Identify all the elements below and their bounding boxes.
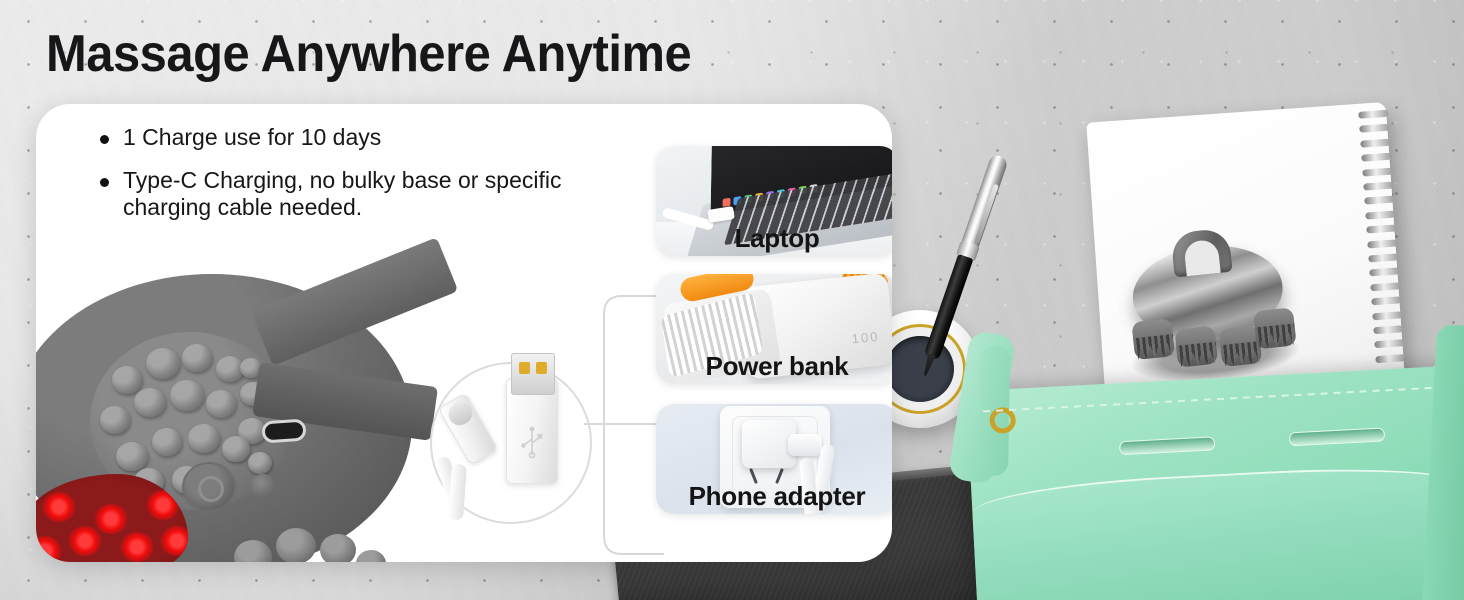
massager-nub <box>222 436 250 462</box>
massager-claw <box>1131 318 1175 360</box>
device-card-label: Power bank <box>656 351 892 382</box>
massager-nub <box>134 388 166 417</box>
bag-stitching <box>983 386 1450 412</box>
massager-nub <box>152 428 182 456</box>
usb-c-head <box>444 398 476 429</box>
massager-claw <box>1174 326 1218 368</box>
usb-a-pin <box>519 362 530 374</box>
massager-nub <box>188 424 220 453</box>
massager-handle <box>1170 228 1232 278</box>
list-item: Type-C Charging, no bulky base or specif… <box>100 167 620 221</box>
massager-sensor <box>250 474 276 498</box>
massager-nub-pad-secondary <box>228 524 388 562</box>
usb-a-pin <box>536 362 547 374</box>
massager-nub <box>146 348 180 379</box>
page-title: Massage Anywhere Anytime <box>46 24 691 84</box>
chrome-scalp-massager <box>1113 221 1308 389</box>
massager-nub <box>116 442 148 471</box>
red-led-dot <box>160 526 188 556</box>
bag-slot <box>1119 436 1216 455</box>
massager-nub <box>170 380 204 411</box>
power-icon <box>198 476 224 502</box>
red-led-dot <box>42 492 76 522</box>
massager-nub <box>234 540 272 562</box>
usb-cable-inset <box>430 362 592 524</box>
power-button[interactable] <box>182 462 236 512</box>
massager-nub <box>112 366 142 394</box>
device-card-power-bank[interactable]: 100 Power bank <box>656 274 892 384</box>
power-bank-display: 100 <box>851 329 880 347</box>
list-item: 1 Charge use for 10 days <box>100 124 620 151</box>
massager-nub <box>356 550 386 562</box>
massager-nub <box>248 452 272 474</box>
adapter-plug <box>788 434 822 456</box>
red-led-dot <box>68 526 102 556</box>
device-card-label: Phone adapter <box>656 481 892 512</box>
usb-c-connector <box>438 392 499 465</box>
massager-nub <box>182 344 212 372</box>
feature-bullet-list: 1 Charge use for 10 days Type-C Charging… <box>100 124 620 237</box>
usb-a-metal-shell <box>511 353 555 395</box>
device-card-label: Laptop <box>656 223 892 254</box>
bullet-dot-icon <box>100 135 109 144</box>
massager-claw <box>1253 307 1297 349</box>
bag-flap <box>971 461 1464 600</box>
massager-nub <box>276 528 316 562</box>
red-led-dot <box>120 532 154 562</box>
info-panel: 1 Charge use for 10 days Type-C Charging… <box>36 104 892 562</box>
usb-c-port <box>261 418 306 443</box>
massager-nub <box>320 534 356 562</box>
usb-a-connector <box>506 378 558 484</box>
device-card-phone-adapter[interactable]: Phone adapter <box>656 404 892 514</box>
red-led-dot <box>36 536 62 562</box>
red-led-dot <box>94 504 128 534</box>
bag-slot <box>1289 427 1386 446</box>
scalp-massager-illustration <box>36 274 442 562</box>
bullet-dot-icon <box>100 178 109 187</box>
mint-handbag <box>966 365 1464 600</box>
device-card-laptop[interactable]: Laptop <box>656 146 892 256</box>
bullet-text: 1 Charge use for 10 days <box>123 124 381 151</box>
massager-nub <box>100 406 130 434</box>
massager-nub <box>206 390 236 418</box>
usb-a-cable <box>448 464 467 521</box>
usb-trident-icon <box>519 425 545 459</box>
product-infographic: 1 Charge use for 10 days Type-C Charging… <box>0 0 1464 600</box>
red-led-dot <box>146 490 180 520</box>
bullet-text: Type-C Charging, no bulky base or specif… <box>123 167 620 221</box>
